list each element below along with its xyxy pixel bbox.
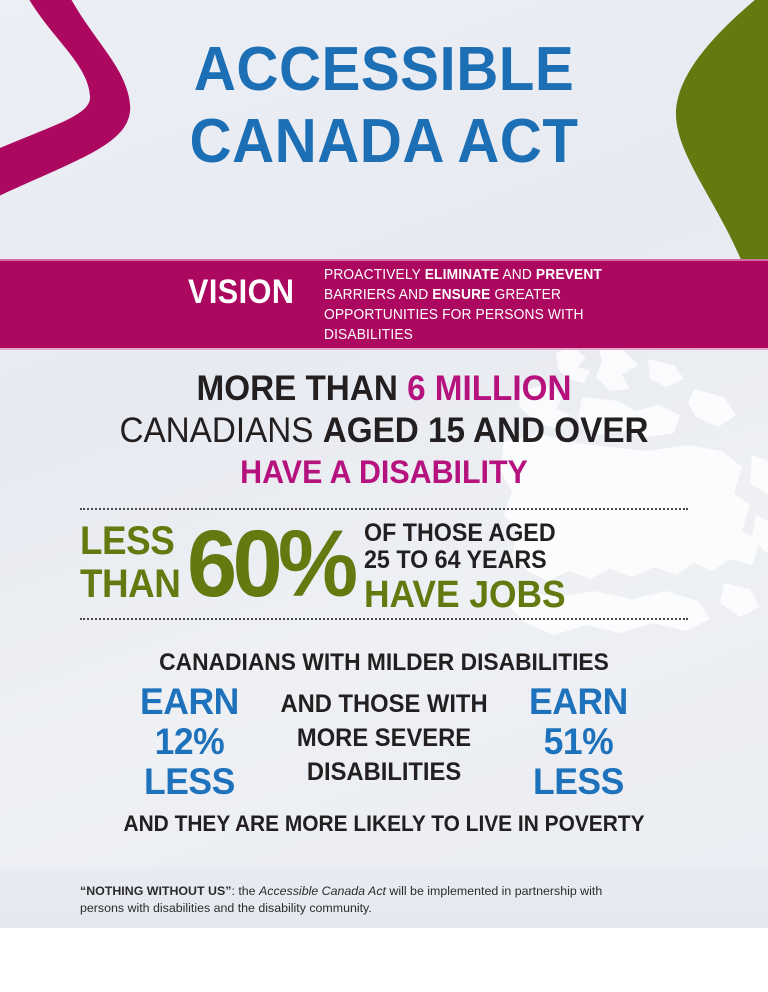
stat-population-line-3: HAVE A DISABILITY xyxy=(19,452,749,492)
stat-earnings-left-line-3: LESS xyxy=(140,762,239,802)
stat-employment-description: OF THOSE AGED 25 TO 64 YEARS HAVE JOBS xyxy=(364,514,581,616)
vision-text-part-2: AND xyxy=(499,267,536,283)
stat-employment-desc-line-2: 25 TO 64 YEARS xyxy=(364,547,566,574)
stat-population-line-2-prefix: CANADIANS xyxy=(119,411,322,450)
stat-population-line-1: MORE THAN 6 MILLION xyxy=(19,368,749,410)
stat-population-line-2: CANADIANS AGED 15 AND OVER xyxy=(19,410,749,452)
vision-label: VISION xyxy=(188,265,294,307)
title-line-1: ACCESSIBLE xyxy=(23,34,745,106)
vision-text-bold-prevent: PREVENT xyxy=(536,267,602,283)
stat-employment-qualifier: LESS THAN xyxy=(80,514,180,606)
stat-employment-desc-line-3: HAVE JOBS xyxy=(364,574,566,616)
stat-earnings-middle-line-1: AND THOSE WITH xyxy=(280,687,487,721)
stat-employment-than: THAN xyxy=(80,563,180,606)
stat-earnings-left-column: EARN 12% LESS xyxy=(138,682,241,802)
vision-banner: VISION PROACTIVELY ELIMINATE AND PREVENT… xyxy=(0,259,768,350)
stat-employment-less: LESS xyxy=(80,520,180,563)
stat-earnings-middle-column: AND THOSE WITH MORE SEVERE DISABILITIES xyxy=(275,682,493,789)
vision-text-part-3: BARRIERS AND xyxy=(324,287,432,303)
stat-population-line-2-bold: AGED 15 AND OVER xyxy=(323,411,649,450)
stat-population-block: MORE THAN 6 MILLION CANADIANS AGED 15 AN… xyxy=(0,368,768,492)
stat-earnings-right-line-3: LESS xyxy=(529,762,628,802)
stat-earnings-middle-line-2: MORE SEVERE xyxy=(280,721,487,755)
stat-earnings-block: CANADIANS WITH MILDER DISABILITIES EARN … xyxy=(0,648,768,838)
page-title: ACCESSIBLE CANADA ACT xyxy=(0,34,768,178)
stat-earnings-footer: AND THEY ARE MORE LIKELY TO LIVE IN POVE… xyxy=(19,810,749,838)
stat-earnings-right-column: EARN 51% LESS xyxy=(527,682,630,802)
quote-after-lead: : the xyxy=(231,884,259,898)
stat-employment-desc-line-1: OF THOSE AGED xyxy=(364,520,566,547)
stat-earnings-columns: EARN 12% LESS AND THOSE WITH MORE SEVERE… xyxy=(0,682,768,802)
stat-earnings-left-value: 12% xyxy=(140,722,239,762)
stat-earnings-left-line-1: EARN xyxy=(140,682,239,722)
stat-employment-value: 60% xyxy=(187,514,353,614)
quote-statement: “NOTHING WITHOUT US”: the Accessible Can… xyxy=(80,883,640,917)
stat-population-highlight: 6 MILLION xyxy=(407,369,571,408)
title-line-2: CANADA ACT xyxy=(23,106,745,178)
stat-employment-block: LESS THAN 60% OF THOSE AGED 25 TO 64 YEA… xyxy=(80,508,688,620)
stat-population-prefix: MORE THAN xyxy=(197,369,408,408)
footer-band: Employment and Social Development Canada… xyxy=(0,928,768,992)
stat-employment-row: LESS THAN 60% OF THOSE AGED 25 TO 64 YEA… xyxy=(80,510,688,618)
vision-text-bold-eliminate: ELIMINATE xyxy=(425,267,500,283)
quote-act-name: Accessible Canada Act xyxy=(259,884,386,898)
quote-bold-lead: “NOTHING WITHOUT US” xyxy=(80,884,231,898)
vision-banner-content: VISION PROACTIVELY ELIMINATE AND PREVENT… xyxy=(0,265,684,345)
stat-earnings-right-line-1: EARN xyxy=(529,682,628,722)
vision-text-bold-ensure: ENSURE xyxy=(433,287,491,303)
stat-earnings-middle-line-3: DISABILITIES xyxy=(280,755,487,789)
vision-text-part-1: PROACTIVELY xyxy=(324,267,425,283)
infographic-poster: ACCESSIBLE CANADA ACT VISION PROACTIVELY… xyxy=(0,0,768,992)
stat-earnings-heading: CANADIANS WITH MILDER DISABILITIES xyxy=(19,648,749,678)
vision-statement: PROACTIVELY ELIMINATE AND PREVENT BARRIE… xyxy=(324,265,666,345)
stat-earnings-right-value: 51% xyxy=(529,722,628,762)
